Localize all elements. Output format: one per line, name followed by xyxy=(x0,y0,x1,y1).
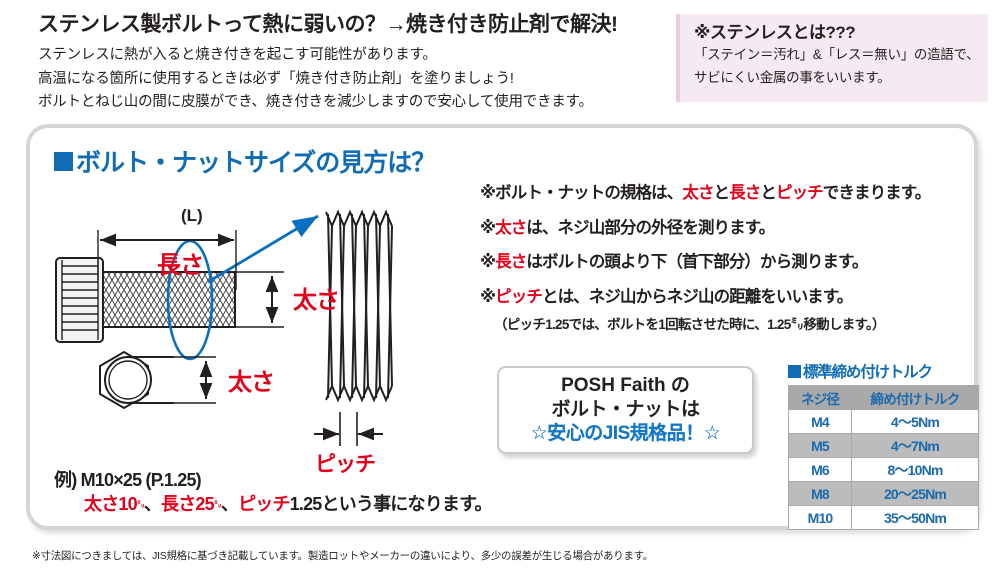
nut-diameter-dimension xyxy=(174,357,216,403)
column-header-torque: 締め付けトルク xyxy=(852,386,979,410)
torque-table: ネジ径 締め付けトルク M4 4〜5Nm M5 4〜7Nm M6 8〜10Nm … xyxy=(788,385,979,530)
nut-shape xyxy=(100,352,174,408)
table-row: M6 8〜10Nm xyxy=(789,458,979,482)
table-header-row: ネジ径 締め付けトルク xyxy=(789,386,979,410)
intro-body: ステンレスに熱が入ると焼き付きを起こす可能性があります。 高温になる箇所に使用す… xyxy=(38,44,658,114)
cell-size: M10 xyxy=(789,506,852,530)
bolt-diameter-dimension xyxy=(236,272,284,327)
bullet-4-note: （ピッチ1.25では、ボルトを1回転させた時に、1.25㍉移動します。） xyxy=(480,313,985,333)
infographic-page: ステンレス製ボルトって熱に弱いの？→焼き付き防止剤で解決! ステンレスに熱が入る… xyxy=(0,0,1000,572)
pitch-dimension xyxy=(314,412,383,446)
cell-torque: 8〜10Nm xyxy=(852,458,979,482)
label-thickness-bolt: 太さ xyxy=(293,280,339,315)
posh-line-1: POSH Faith の xyxy=(561,374,690,398)
torque-table-block: 標準締め付けトルク ネジ径 締め付けトルク M4 4〜5Nm M5 4〜7Nm … xyxy=(788,360,984,530)
cell-torque: 4〜5Nm xyxy=(852,410,979,434)
table-row: M5 4〜7Nm xyxy=(789,434,979,458)
label-L: (L) xyxy=(181,206,203,226)
footnote: ※寸法図につきましては、JIS規格に基づき記載しています。製造ロットやメーカーの… xyxy=(32,548,653,563)
bullet-4: ※ピッチとは、ネジ山からネジ山の距離をいいます。 xyxy=(480,289,985,306)
posh-faith-box: POSH Faith の ボルト・ナットは ☆安心のJIS規格品！☆ xyxy=(497,366,754,454)
example-line-1: 例) M10×25 (P.1.25) xyxy=(54,466,201,492)
intro-line-1: ステンレスに熱が入ると焼き付きを起こす可能性があります。 xyxy=(38,44,658,67)
torque-heading-text: 標準締め付けトルク xyxy=(803,360,932,382)
intro-title: ステンレス製ボルトって熱に弱いの？→焼き付き防止剤で解決! xyxy=(38,12,658,37)
page-title: ボルト・ナットサイズの見方は？ xyxy=(54,143,435,179)
intro-block: ステンレス製ボルトって熱に弱いの？→焼き付き防止剤で解決! ステンレスに熱が入る… xyxy=(38,12,658,115)
square-bullet-icon xyxy=(54,152,73,171)
stainless-definition-title: ※ステンレスとは??? xyxy=(694,23,976,43)
cell-size: M6 xyxy=(789,458,852,482)
torque-table-heading: 標準締め付けトルク xyxy=(788,360,984,382)
intro-line-3: ボルトとねじ山の間に皮膜ができ、焼き付きを減少しますので安心して使用できます。 xyxy=(38,91,658,114)
table-row: M10 35〜50Nm xyxy=(789,506,979,530)
bullet-2: ※太さは、ネジ山部分の外径を測ります。 xyxy=(480,220,985,237)
table-row: M4 4〜5Nm xyxy=(789,410,979,434)
column-header-size: ネジ径 xyxy=(789,386,852,410)
stainless-definition-line-1: 「ステイン＝汚れ」&「レス＝無い」の造語で、 xyxy=(694,45,976,66)
cell-torque: 35〜50Nm xyxy=(852,506,979,530)
table-row: M8 20〜25Nm xyxy=(789,482,979,506)
spec-bullet-list: ※ボルト・ナットの規格は、太さと長さとピッチできまります。 ※太さは、ネジ山部分… xyxy=(480,185,985,333)
diagram-svg xyxy=(40,190,500,480)
bullet-1: ※ボルト・ナットの規格は、太さと長さとピッチできまります。 xyxy=(480,185,985,202)
page-title-text: ボルト・ナットサイズの見方は？ xyxy=(76,143,435,179)
stainless-definition-line-2: サビにくい金属の事をいいます。 xyxy=(694,68,976,89)
label-length: 長さ xyxy=(157,245,203,280)
cell-size: M8 xyxy=(789,482,852,506)
square-bullet-icon-small xyxy=(788,365,801,378)
cell-size: M5 xyxy=(789,434,852,458)
bolt-nut-diagram: (L) 長さ 太さ 太さ ピッチ xyxy=(40,190,500,480)
label-thickness-nut: 太さ xyxy=(228,362,274,397)
bolt-head xyxy=(56,258,103,342)
cell-torque: 20〜25Nm xyxy=(852,482,979,506)
posh-line-2: ボルト・ナットは xyxy=(551,398,699,422)
bullet-3: ※長さはボルトの頭より下（首下部分）から測ります。 xyxy=(480,254,985,271)
cell-size: M4 xyxy=(789,410,852,434)
label-pitch: ピッチ xyxy=(315,448,375,478)
intro-line-2: 高温になる箇所に使用するときは必ず「焼き付き防止剤」を塗りましょう! xyxy=(38,68,658,91)
stainless-definition-box: ※ステンレスとは??? 「ステイン＝汚れ」&「レス＝無い」の造語で、 サビにくい… xyxy=(676,14,988,102)
posh-line-3: ☆安心のJIS規格品！☆ xyxy=(531,422,721,446)
example-line-2: 太さ10㍉、長さ25㍉、ピッチ1.25という事になります。 xyxy=(84,490,492,516)
cell-torque: 4〜7Nm xyxy=(852,434,979,458)
